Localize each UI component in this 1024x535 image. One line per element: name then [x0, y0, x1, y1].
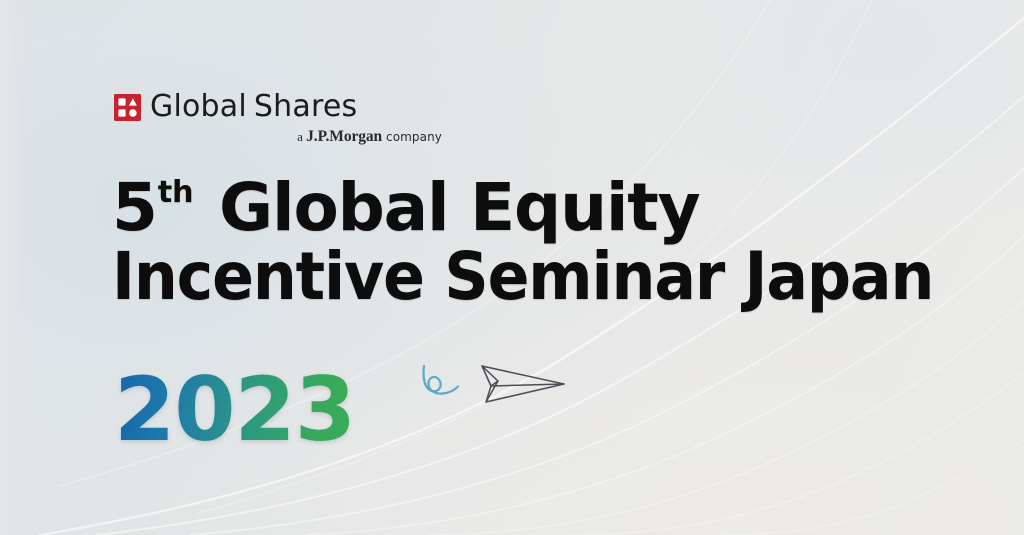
slide-content: GlobalShares a J.P.Morgan company 5th Gl…	[0, 0, 1024, 535]
brand-tagline: a J.P.Morgan company	[114, 128, 444, 146]
title-line-1-rest: Global Equity	[197, 169, 699, 246]
title-slide: GlobalShares a J.P.Morgan company 5th Gl…	[0, 0, 1024, 535]
title-line-2: Incentive Seminar Japan	[112, 245, 933, 308]
tagline-company: company	[382, 130, 442, 144]
brand-lockup: GlobalShares a J.P.Morgan company	[114, 92, 444, 146]
paper-plane-icon	[482, 366, 564, 402]
paper-plane-doodle-group	[412, 348, 572, 410]
title-line-1: 5th Global Equity	[112, 176, 990, 239]
brand-word-shares: Shares	[254, 89, 357, 124]
tagline-jpmorgan: J.P.Morgan	[306, 128, 382, 145]
brand-word-global: Global	[150, 89, 247, 124]
brand-wordmark: GlobalShares	[150, 92, 357, 122]
tagline-article: a	[297, 129, 306, 144]
page-title: 5th Global Equity Incentive Seminar Japa…	[112, 176, 990, 309]
title-edition-number: 5	[112, 169, 157, 246]
global-shares-logo-mark-icon	[114, 94, 141, 121]
year-label: 2023	[114, 366, 355, 454]
brand-name-row: GlobalShares	[114, 92, 444, 122]
title-ordinal-suffix: th	[158, 175, 194, 210]
loop-trail-squiggle-icon	[424, 366, 458, 394]
